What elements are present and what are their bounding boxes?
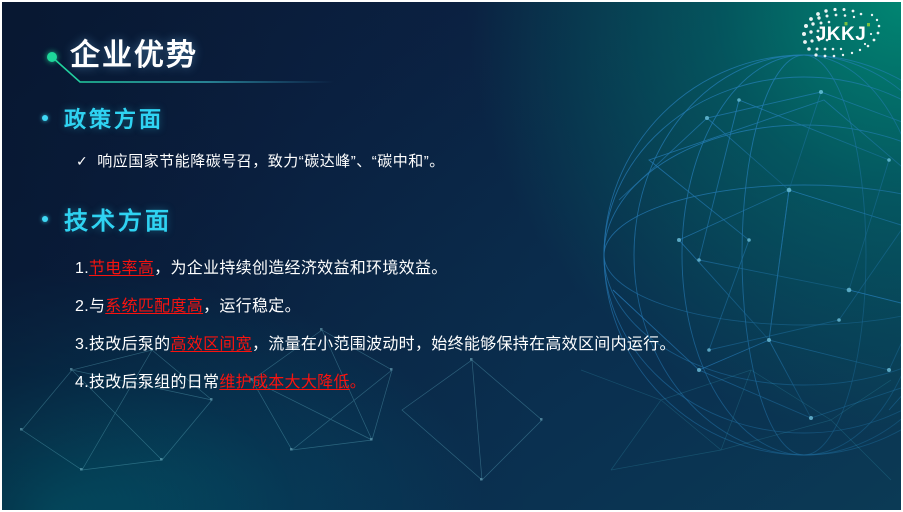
jkkj-logo: JKKJ xyxy=(795,4,887,68)
check-icon: ✓ xyxy=(76,153,88,170)
section-technology-heading: 技术方面 xyxy=(64,201,172,236)
list-item-pre: 与 xyxy=(89,298,105,315)
list-item-number: 1. xyxy=(75,260,89,277)
technology-advantage-list: 1.节电率高，为企业持续创造经济效益和环境效益。 2.与系统匹配度高，运行稳定。… xyxy=(75,254,881,392)
list-item: 2.与系统匹配度高，运行稳定。 xyxy=(75,292,881,316)
logo-wordmark: JKKJ xyxy=(816,24,867,45)
dot-icon xyxy=(42,216,48,222)
policy-bullet-line: ✓ 响应国家节能降碳号召，致力“碳达峰”、“碳中和”。 xyxy=(76,150,881,171)
list-item-pre: 技改后泵组的日常 xyxy=(89,374,219,391)
policy-bullet-text: 响应国家节能降碳号召，致力“碳达峰”、“碳中和”。 xyxy=(97,150,444,171)
list-item-highlight: 维护成本大大降低 xyxy=(219,374,349,391)
list-item-post: ，流量在小范围波动时，始终能够保持在高效区间内运行。 xyxy=(252,336,676,353)
list-item-tail: 。 xyxy=(350,374,366,391)
section-technology-heading-row: 技术方面 xyxy=(30,201,881,236)
list-item-post: ，运行稳定。 xyxy=(203,298,301,315)
logo-swirl-icon: JKKJ xyxy=(795,4,887,68)
list-item: 4.技改后泵组的日常维护成本大大降低。 xyxy=(75,368,881,392)
list-item-highlight: 节电率高 xyxy=(89,260,154,277)
list-item-pre: 技改后泵的 xyxy=(89,336,171,353)
list-item: 1.节电率高，为企业持续创造经济效益和环境效益。 xyxy=(75,254,881,278)
list-item-highlight: 高效区间宽 xyxy=(170,336,252,353)
list-item-highlight: 系统匹配度高 xyxy=(105,298,203,315)
dot-icon xyxy=(42,115,48,121)
list-item-number: 4. xyxy=(75,374,89,391)
list-item-number: 3. xyxy=(75,336,89,353)
page-title: 企业优势 xyxy=(70,30,198,74)
slide-body: 政策方面 ✓ 响应国家节能降碳号召，致力“碳达峰”、“碳中和”。 技术方面 1.… xyxy=(30,102,881,406)
page-title-block: 企业优势 xyxy=(38,32,458,92)
list-item: 3.技改后泵的高效区间宽，流量在小范围波动时，始终能够保持在高效区间内运行。 xyxy=(75,330,881,354)
section-policy-heading-row: 政策方面 xyxy=(30,102,881,134)
list-item-post: ，为企业持续创造经济效益和环境效益。 xyxy=(154,260,447,277)
section-technology: 技术方面 1.节电率高，为企业持续创造经济效益和环境效益。 2.与系统匹配度高，… xyxy=(30,201,881,392)
list-item-number: 2. xyxy=(75,298,89,315)
title-accent-dot xyxy=(47,52,57,62)
section-policy: 政策方面 ✓ 响应国家节能降碳号召，致力“碳达峰”、“碳中和”。 xyxy=(30,102,881,171)
presentation-slide: JKKJ 企业优势 政策方面 ✓ 响应 xyxy=(0,0,903,512)
section-policy-heading: 政策方面 xyxy=(64,102,164,134)
